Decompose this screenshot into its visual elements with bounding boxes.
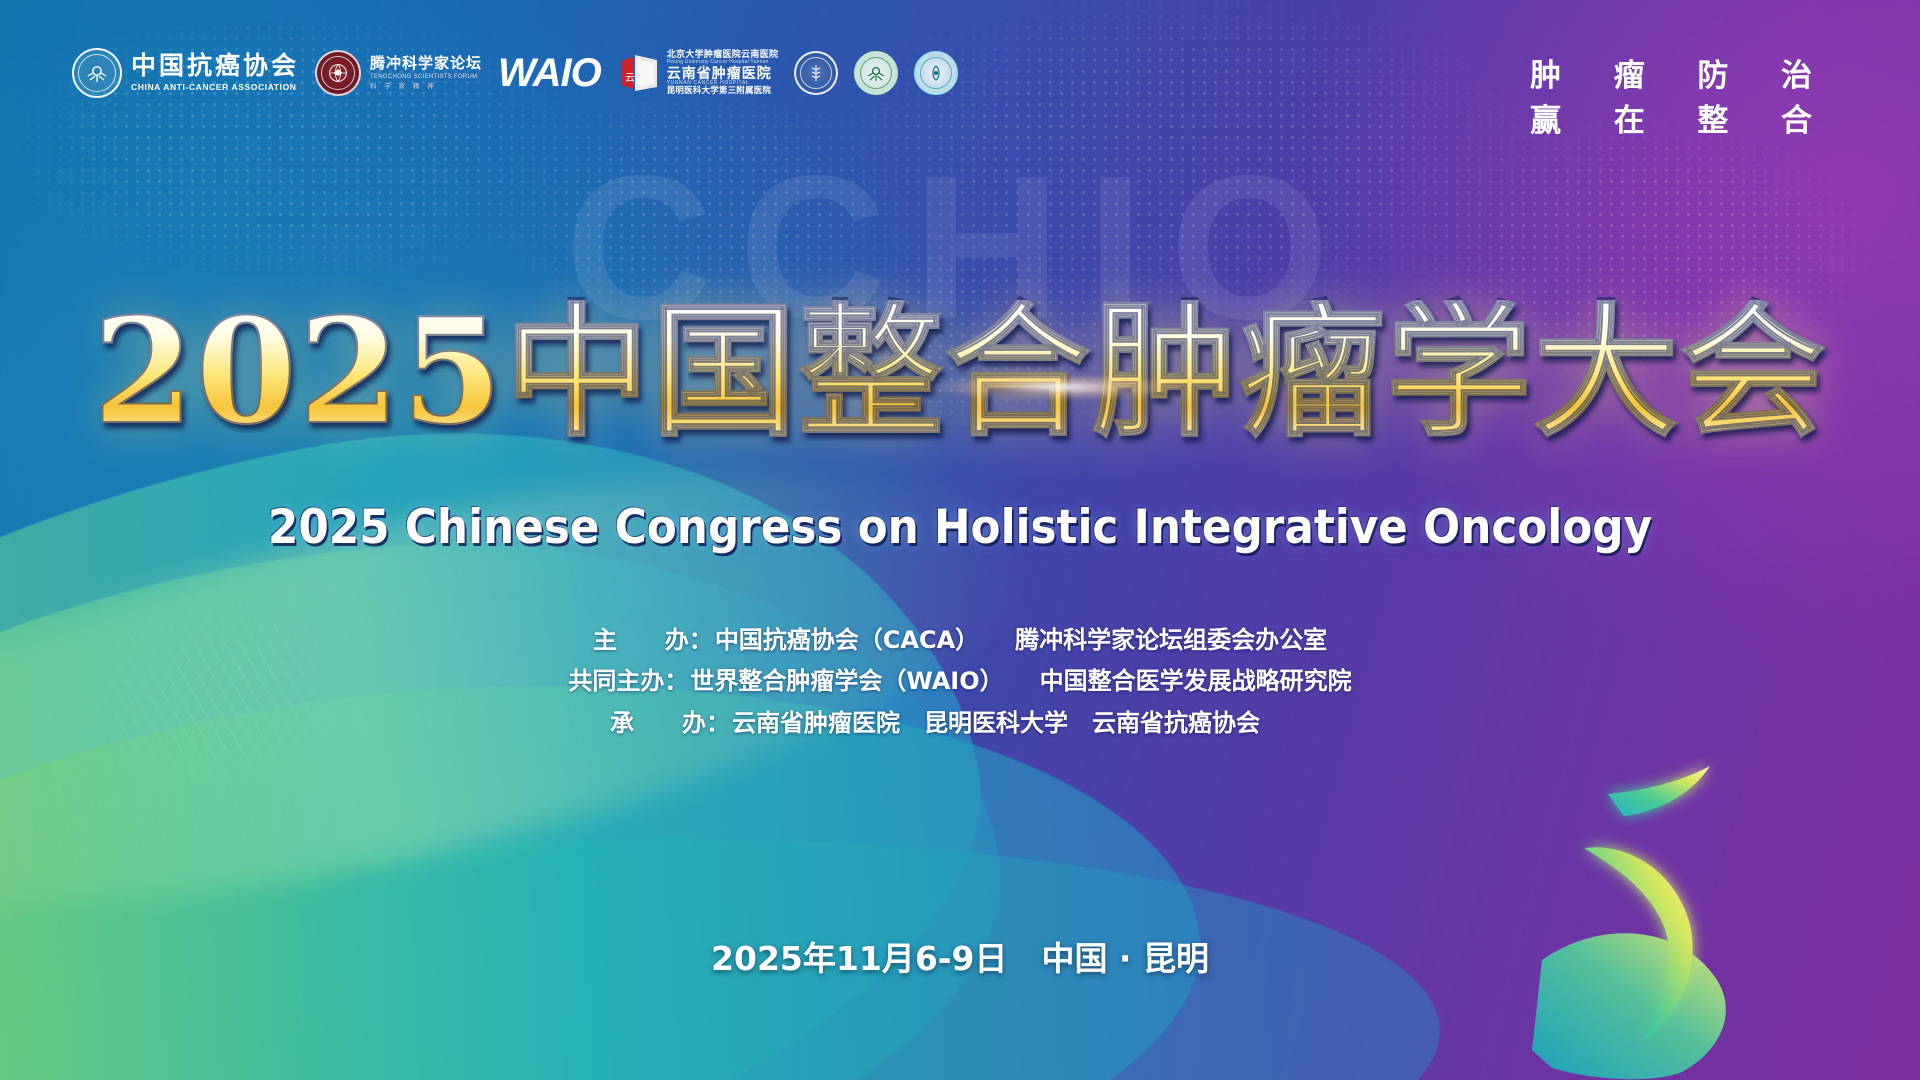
organizer-label: 承 办： [610, 703, 732, 744]
date-venue-bar: 2025年11月6-9日中国 · 昆明 [0, 932, 1920, 980]
slogan-line-1: 肿 瘤 防 治 [1530, 54, 1834, 99]
organizer-value: 世界整合肿瘤学会（WAIO） 中国整合医学发展战略研究院 [690, 667, 1351, 695]
yunnan-line2-cn: 云南省肿瘤医院 [667, 66, 779, 81]
organizer-row: 共同主办：世界整合肿瘤学会（WAIO） 中国整合医学发展战略研究院 [0, 661, 1920, 702]
logo-caca: 中国抗癌协会 CHINA ANTI-CANCER ASSOCIATION [72, 48, 299, 98]
svg-text:云: 云 [625, 73, 635, 84]
tengchong-seal-icon [315, 50, 361, 96]
organizer-block: 主 办：中国抗癌协会（CACA） 腾冲科学家论坛组委会办公室 共同主办：世界整合… [0, 620, 1920, 744]
logo-yunnan-anti-cancer-association [854, 51, 898, 95]
caca-seal-icon [72, 48, 122, 98]
logo-kunming-medical-university [794, 51, 838, 95]
slogan-block: 肿 瘤 防 治 赢 在 整 合 [1530, 54, 1834, 144]
main-title-block: 2025中国整合肿瘤学大会 [0, 300, 1920, 445]
yunnan-hospital-mark-icon: 云 [617, 51, 661, 95]
main-title-cn: 2025中国整合肿瘤学大会 [93, 300, 1828, 445]
tengchong-subtitle: 科 学 家 精 神 [370, 84, 482, 91]
main-title-en: 2025 Chinese Congress on Holistic Integr… [67, 500, 1853, 555]
logo-yunnan-cancer-hospital: 云 北京大学肿瘤医院云南医院 Peking University Cancer … [617, 50, 779, 96]
caca-name-cn: 中国抗癌协会 [131, 54, 299, 79]
peacock-motif-icon [1532, 750, 1852, 1080]
organizer-label: 共同主办： [568, 661, 690, 702]
caca-name-en: CHINA ANTI-CANCER ASSOCIATION [131, 83, 299, 92]
organizer-value: 云南省肿瘤医院 昆明医科大学 云南省抗癌协会 [732, 709, 1260, 737]
logo-tengchong-forum: 腾冲科学家论坛 TENGCHONG SCIENTISTS FORUM 科 学 家… [315, 50, 482, 96]
tengchong-name-en: TENGCHONG SCIENTISTS FORUM [370, 74, 482, 80]
logo-yunnan-medical-association [914, 51, 958, 95]
event-venue: 中国 · 昆明 [1041, 939, 1209, 978]
slogan-line-2: 赢 在 整 合 [1530, 99, 1834, 144]
organizer-label: 主 办： [593, 620, 715, 661]
tengchong-name-cn: 腾冲科学家论坛 [370, 56, 482, 72]
organizer-row: 承 办：云南省肿瘤医院 昆明医科大学 云南省抗癌协会 [0, 703, 1920, 744]
conference-poster: CCHIO [0, 0, 1920, 1080]
yunnan-line3-cn: 昆明医科大学第三附属医院 [667, 86, 779, 95]
organizer-value: 中国抗癌协会（CACA） 腾冲科学家论坛组委会办公室 [715, 626, 1327, 654]
logo-waio: WAIO [498, 51, 601, 96]
event-date: 2025年11月6-9日 [711, 939, 1007, 978]
organizer-row: 主 办：中国抗癌协会（CACA） 腾冲科学家论坛组委会办公室 [0, 620, 1920, 661]
sponsor-logo-bar: 中国抗癌协会 CHINA ANTI-CANCER ASSOCIATION 腾冲科… [72, 48, 958, 98]
